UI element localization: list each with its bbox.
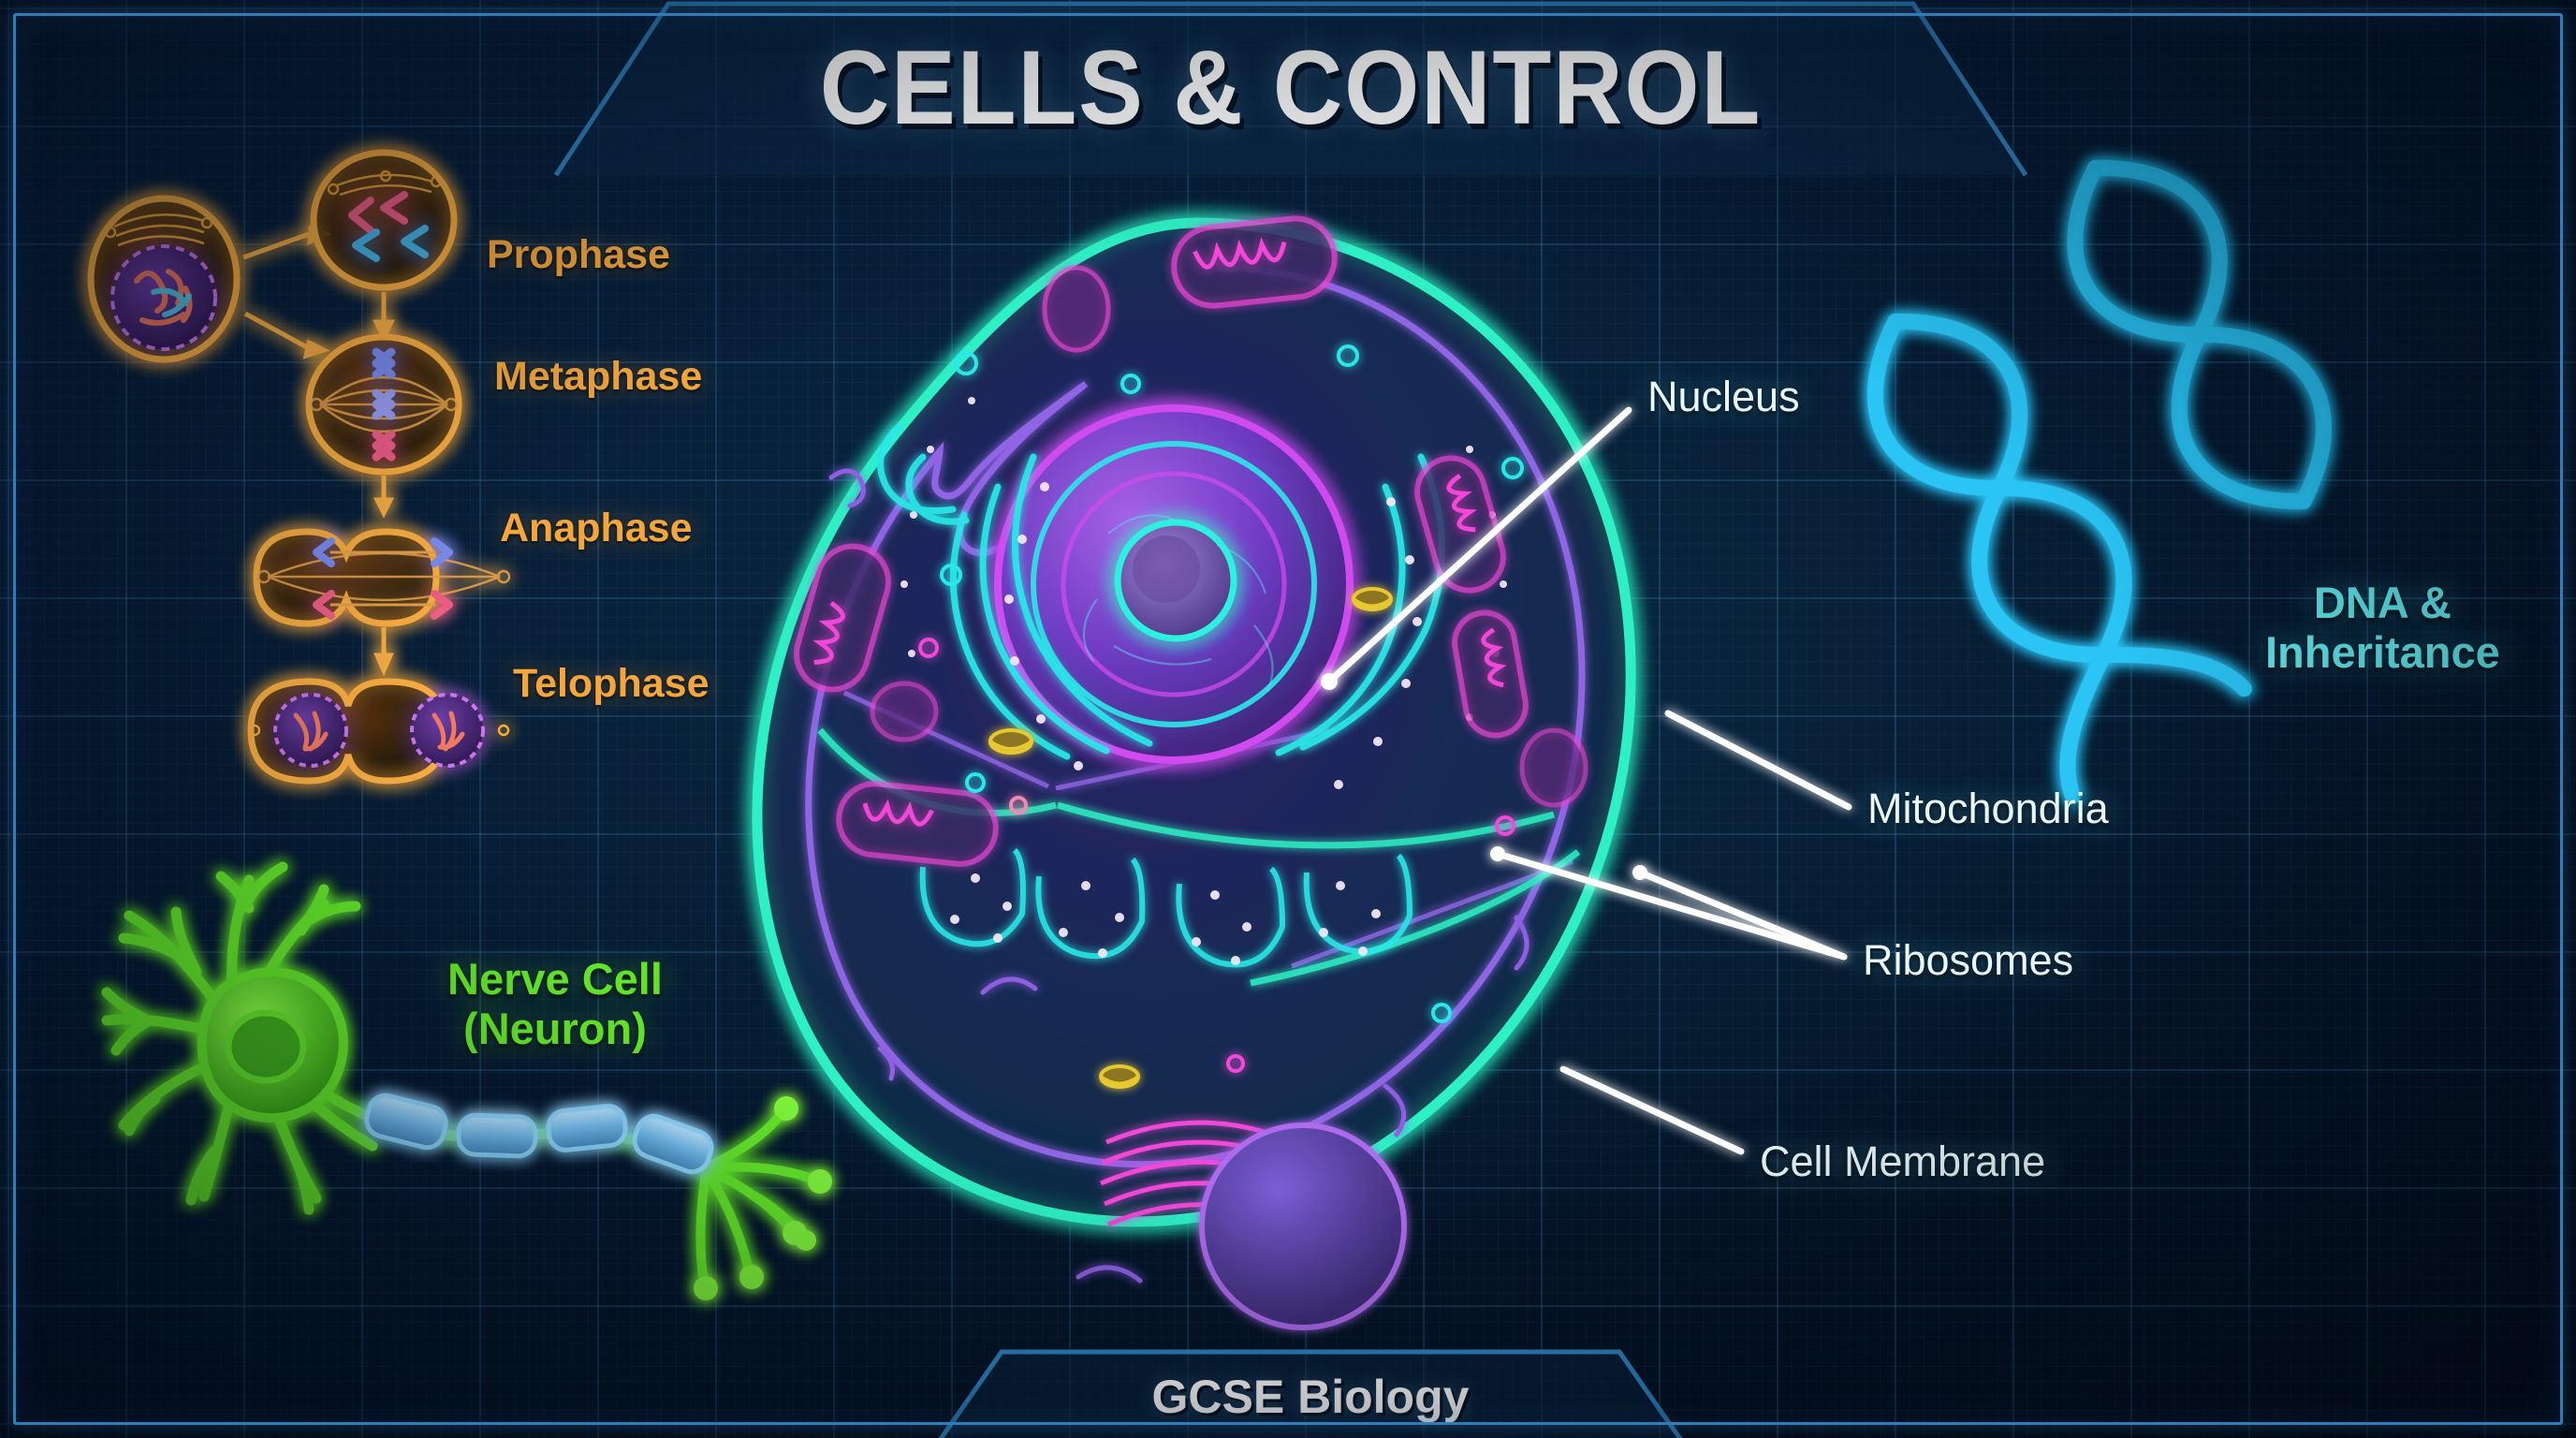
outer-frame-border bbox=[13, 13, 2563, 1425]
animal-cell-illustration bbox=[730, 206, 1666, 1255]
background-grid-major bbox=[0, 0, 2576, 1438]
mitosis-label-prophase: Prophase bbox=[487, 232, 670, 278]
page-title: CELLS & CONTROL bbox=[615, 17, 1967, 157]
mitosis-diagram bbox=[75, 140, 599, 740]
vignette-overlay bbox=[0, 0, 2576, 1438]
callout-label-mitochondria: Mitochondria bbox=[1867, 785, 2109, 833]
footer-title: GCSE Biology bbox=[936, 1359, 1685, 1434]
callout-label-ribosomes: Ribosomes bbox=[1863, 936, 2073, 985]
neuron-illustration bbox=[66, 843, 889, 1329]
callout-leader-lines bbox=[0, 0, 2576, 1438]
infographic-canvas: Prophase Metaphase Anaphase Telophase bbox=[0, 0, 2576, 1438]
mitosis-label-anaphase: Anaphase bbox=[500, 506, 693, 551]
mitosis-label-metaphase: Metaphase bbox=[494, 354, 702, 400]
background-grid-minor bbox=[0, 0, 2576, 1438]
dna-section-label: DNA & Inheritance bbox=[2265, 579, 2500, 677]
neuron-label-line-2: (Neuron) bbox=[447, 1005, 663, 1054]
callout-label-cell-membrane: Cell Membrane bbox=[1760, 1137, 2045, 1186]
dna-label-line-1: DNA & bbox=[2265, 579, 2500, 628]
dna-label-line-2: Inheritance bbox=[2265, 628, 2500, 678]
neuron-label-line-1: Nerve Cell bbox=[447, 955, 663, 1005]
mitosis-label-telophase: Telophase bbox=[513, 661, 709, 707]
neuron-section-label: Nerve Cell (Neuron) bbox=[447, 955, 663, 1053]
callout-label-nucleus: Nucleus bbox=[1647, 373, 1800, 421]
